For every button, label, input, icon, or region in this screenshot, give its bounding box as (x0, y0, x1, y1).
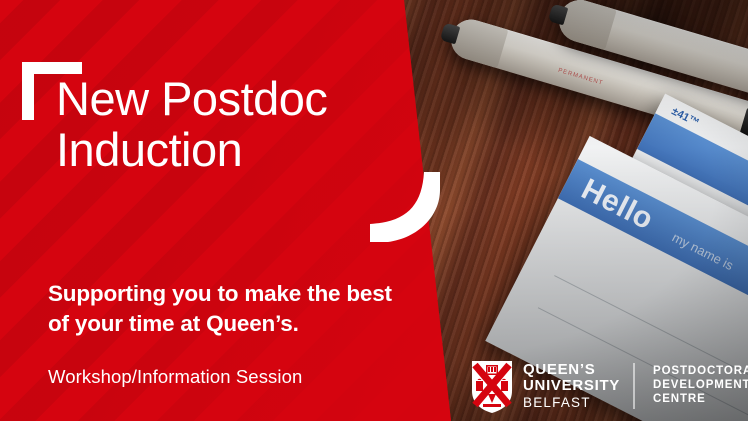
wordmark-line-3: BELFAST (523, 395, 620, 410)
poster-canvas: PERMANENT Sharpie ±41™ Hello my name is (0, 0, 748, 421)
title-line-2: Induction (56, 125, 416, 176)
swoosh-arc-icon (370, 172, 440, 244)
tagline: Supporting you to make the best of your … (48, 279, 458, 338)
bracket-vertical-bar (22, 62, 34, 120)
wordmark-line-2: UNIVERSITY (523, 378, 620, 395)
unit-line-2: DEVELOPMENT (653, 379, 748, 393)
tagline-line-1: Supporting you to make the best (48, 279, 458, 309)
title-line-1: New Postdoc (56, 74, 416, 125)
unit-line-1: POSTDOCTORAL (653, 365, 748, 379)
unit-line-3: CENTRE (653, 393, 748, 407)
unit-name: POSTDOCTORAL DEVELOPMENT CENTRE (653, 365, 748, 406)
logo-lockup: QUEEN’S UNIVERSITY BELFAST POSTDOCTORAL … (470, 355, 748, 417)
logo-divider (633, 363, 635, 409)
queens-university-crest-icon (470, 359, 514, 414)
wordmark-line-1: QUEEN’S (523, 362, 620, 379)
session-type-label: Workshop/Information Session (48, 366, 448, 388)
university-wordmark: QUEEN’S UNIVERSITY BELFAST (523, 362, 620, 411)
tagline-line-2: of your time at Queen’s. (48, 309, 458, 339)
page-title: New Postdoc Induction (56, 74, 416, 176)
